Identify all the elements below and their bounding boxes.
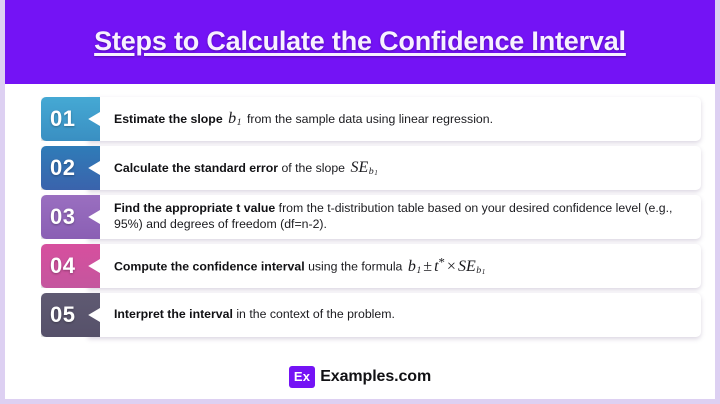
step-row: 01 Estimate the slope b1 from the sample… [41, 97, 701, 141]
steps-list: 01 Estimate the slope b1 from the sample… [5, 84, 715, 337]
step-rest-01: from the sample data using linear regres… [247, 112, 493, 126]
step-card-02: Calculate the standard error of the slop… [88, 146, 701, 190]
step-card-01: Estimate the slope b1 from the sample da… [88, 97, 701, 141]
step-text-02: Calculate the standard error of the slop… [114, 158, 380, 179]
step-number-04: 04 [50, 253, 75, 279]
step-lead-05: Interpret the interval [114, 307, 233, 321]
step-number-01: 01 [50, 106, 75, 132]
examples-logo-icon: Ex [289, 366, 315, 388]
step-row: 04 Compute the confidence interval using… [41, 244, 701, 288]
step-text-05: Interpret the interval in the context of… [114, 307, 395, 323]
step-card-05: Interpret the interval in the context of… [88, 293, 701, 337]
step-formula-02: SEb1 [348, 159, 379, 176]
step-lead-02: Calculate the standard error [114, 161, 278, 175]
step-row: 02 Calculate the standard error of the s… [41, 146, 701, 190]
header-banner: Steps to Calculate the Confidence Interv… [5, 0, 715, 84]
step-lead-01: Estimate the slope [114, 112, 223, 126]
step-formula-04: b1±t*×SEb1 [406, 258, 487, 275]
step-formula-01: b1 [226, 110, 243, 127]
step-lead-04: Compute the confidence interval [114, 260, 305, 274]
step-number-02: 02 [50, 155, 75, 181]
step-lead-03: Find the appropriate t value [114, 201, 275, 215]
step-text-04: Compute the confidence interval using th… [114, 254, 487, 277]
step-text-03: Find the appropriate t value from the t-… [114, 201, 691, 232]
step-row: 05 Interpret the interval in the context… [41, 293, 701, 337]
examples-logo-text: Examples.com [320, 368, 431, 386]
step-rest-05: in the context of the problem. [236, 307, 395, 321]
step-rest-03: from the t-distribution table based on y… [279, 201, 550, 215]
footer-branding: Ex Examples.com [5, 366, 715, 388]
step-row: 03 Find the appropriate t value from the… [41, 195, 701, 239]
step-number-03: 03 [50, 204, 75, 230]
step-rest-04: using the formula [308, 260, 402, 274]
step-number-05: 05 [50, 302, 75, 328]
step-text-01: Estimate the slope b1 from the sample da… [114, 109, 493, 130]
infographic-card: Steps to Calculate the Confidence Interv… [0, 0, 720, 404]
step-card-03: Find the appropriate t value from the t-… [88, 195, 701, 239]
page-title: Steps to Calculate the Confidence Interv… [94, 26, 626, 56]
step-rest-02: of the slope [281, 161, 345, 175]
step-card-04: Compute the confidence interval using th… [88, 244, 701, 288]
